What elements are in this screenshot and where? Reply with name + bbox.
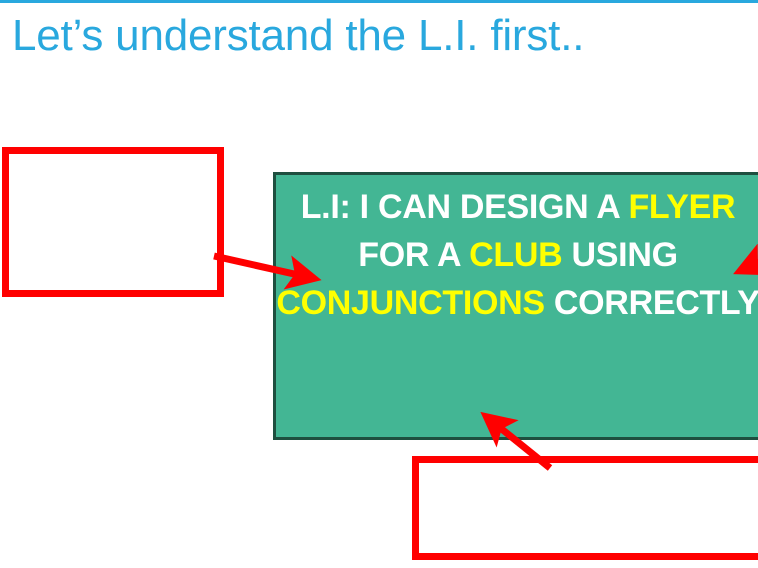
learning-intention-box: L.I: I CAN DESIGN A FLYER FOR A CLUB USI… <box>273 172 758 440</box>
callout-flyer <box>2 147 224 297</box>
li-segment-3: CLUB <box>469 236 562 274</box>
page-title: Let’s understand the L.I. first.. <box>12 6 752 68</box>
top-accent-rule <box>0 0 758 3</box>
callout-bullets <box>412 456 758 560</box>
li-segment-1: FLYER <box>628 188 735 226</box>
slide-canvas: Let’s understand the L.I. first.. L.I: I… <box>0 0 758 568</box>
li-segment-6: CORRECTLY <box>545 284 758 322</box>
learning-intention-text: L.I: I CAN DESIGN A FLYER FOR A CLUB USI… <box>276 183 758 327</box>
li-segment-5: CONJUNCTIONS <box>276 284 544 322</box>
li-segment-4: USING <box>562 236 677 274</box>
li-segment-2: FOR A <box>358 236 469 274</box>
li-segment-0: L.I: I CAN DESIGN A <box>301 188 629 226</box>
